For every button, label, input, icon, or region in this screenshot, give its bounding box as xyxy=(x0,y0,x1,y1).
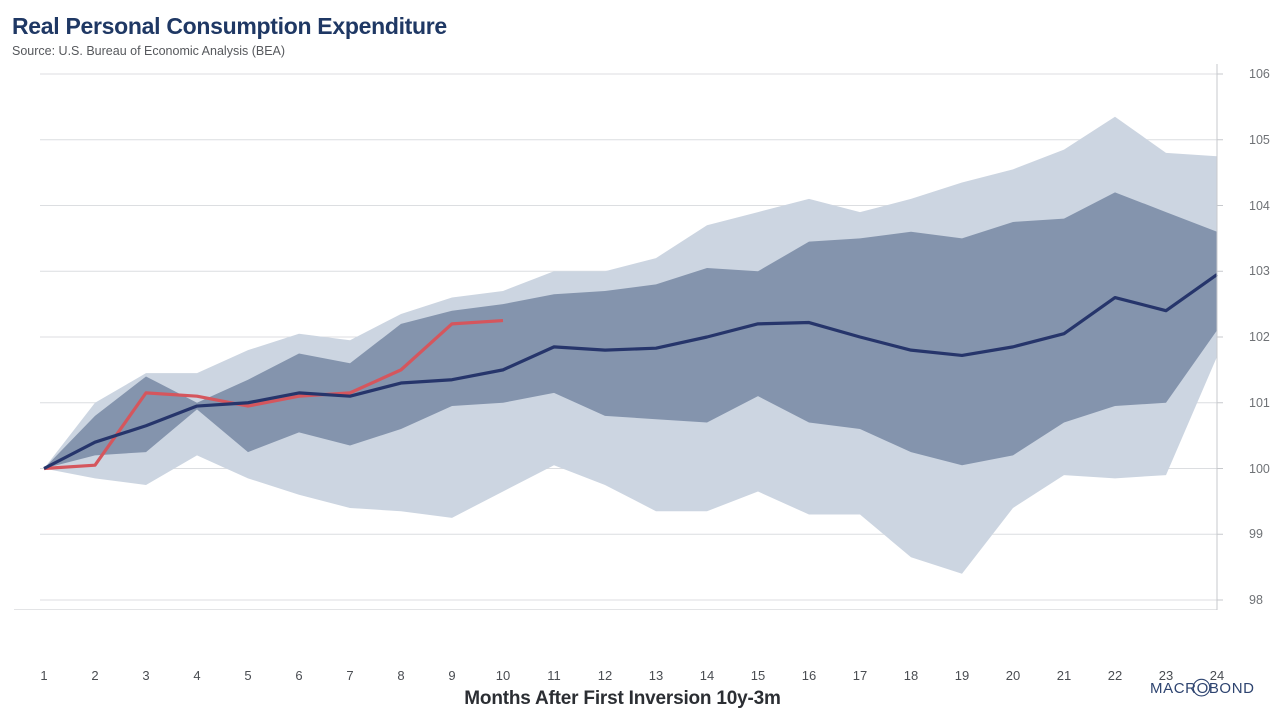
y-axis-ticks-group xyxy=(1217,74,1223,600)
page-title: Real Personal Consumption Expenditure xyxy=(12,12,1012,40)
chart-source-text: Source: U.S. Bureau of Economic Analysis… xyxy=(12,43,1012,59)
confidence-bands-group xyxy=(44,117,1217,574)
x-axis-tick-label-14: 14 xyxy=(700,668,714,683)
x-axis-tick-label-12: 12 xyxy=(598,668,612,683)
chart-header: Real Personal Consumption Expenditure So… xyxy=(12,12,1012,59)
x-axis-tick-label-4: 4 xyxy=(193,668,200,683)
x-axis-tick-label-19: 19 xyxy=(955,668,969,683)
y-axis-tick-label-101: 101 xyxy=(1249,397,1270,409)
x-axis-tick-label-21: 21 xyxy=(1057,668,1071,683)
x-axis-tick-label-10: 10 xyxy=(496,668,510,683)
x-axis-tick-label-15: 15 xyxy=(751,668,765,683)
y-axis-tick-label-106: 106 xyxy=(1249,68,1270,80)
x-axis-tick-label-1: 1 xyxy=(40,668,47,683)
x-axis-tick-label-3: 3 xyxy=(142,668,149,683)
x-axis-tick-label-6: 6 xyxy=(295,668,302,683)
chart-canvas xyxy=(0,60,1280,610)
x-axis-tick-label-2: 2 xyxy=(91,668,98,683)
x-axis-tick-label-7: 7 xyxy=(346,668,353,683)
y-axis-tick-label-103: 103 xyxy=(1249,265,1270,277)
macrobond-logo: MACROBOND xyxy=(1150,678,1266,698)
x-axis-tick-label-20: 20 xyxy=(1006,668,1020,683)
x-axis-tick-label-11: 11 xyxy=(547,668,561,683)
x-axis-tick-label-18: 18 xyxy=(904,668,918,683)
x-axis-title: Months After First Inversion 10y-3m xyxy=(0,688,1245,710)
y-axis-tick-label-98: 98 xyxy=(1249,594,1263,606)
macrobond-logo-icon: MACROBOND xyxy=(1150,678,1266,698)
y-axis-tick-label-102: 102 xyxy=(1249,331,1270,343)
chart-plot-area: 9899100101102103104105106 12345678910111… xyxy=(0,60,1280,610)
x-axis-tick-label-16: 16 xyxy=(802,668,816,683)
x-axis-tick-label-22: 22 xyxy=(1108,668,1122,683)
y-axis-tick-label-104: 104 xyxy=(1249,200,1270,212)
chart-page: Real Personal Consumption Expenditure So… xyxy=(0,0,1280,720)
x-axis-tick-label-8: 8 xyxy=(397,668,404,683)
x-axis-tick-label-9: 9 xyxy=(448,668,455,683)
x-axis-tick-label-13: 13 xyxy=(649,668,663,683)
x-axis-tick-label-5: 5 xyxy=(244,668,251,683)
x-axis-tick-label-17: 17 xyxy=(853,668,867,683)
y-axis-tick-label-105: 105 xyxy=(1249,134,1270,146)
macrobond-logo-text: MACROBOND xyxy=(1150,680,1255,697)
y-axis-tick-label-100: 100 xyxy=(1249,463,1270,475)
y-axis-tick-label-99: 99 xyxy=(1249,528,1263,540)
